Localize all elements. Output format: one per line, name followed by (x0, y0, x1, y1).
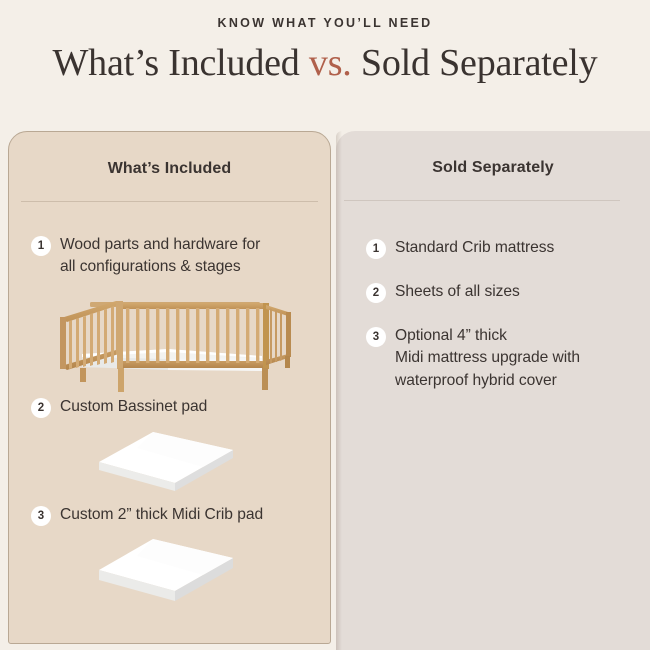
list-item: 2 Sheets of all sizes (366, 281, 628, 303)
item-label: Sheets of all sizes (395, 281, 520, 303)
item-number-badge: 2 (366, 283, 386, 303)
included-item-3: 3 Custom 2” thick Midi Crib pad (31, 504, 314, 612)
item-number-badge: 3 (31, 506, 51, 526)
page-header: KNOW WHAT YOU’LL NEED What’s Included vs… (0, 0, 650, 84)
item-label: Standard Crib mattress (395, 237, 554, 259)
item-number-badge: 3 (366, 327, 386, 347)
crib-illustration (48, 288, 298, 396)
bassinet-pad-illustration (83, 424, 263, 504)
page-title-part-1: What’s Included (53, 42, 309, 84)
page-title-part-2: Sold Separately (352, 42, 598, 84)
list-item: 2 Custom Bassinet pad (31, 396, 314, 418)
whats-included-list: 1 Wood parts and hardware for all config… (9, 202, 330, 613)
item-number-badge: 1 (31, 236, 51, 256)
page-title-accent: vs. (309, 42, 352, 84)
list-item: 3 Optional 4” thick Midi mattress upgrad… (366, 325, 628, 391)
item-label: Custom 2” thick Midi Crib pad (60, 504, 263, 526)
item-label: Custom Bassinet pad (60, 396, 207, 418)
sold-separately-list: 1 Standard Crib mattress 2 Sheets of all… (336, 201, 650, 392)
item-label: Optional 4” thick Midi mattress upgrade … (395, 325, 580, 391)
list-item: 3 Custom 2” thick Midi Crib pad (31, 504, 314, 526)
included-item-2: 2 Custom Bassinet pad (31, 396, 314, 504)
included-item-1: 1 Wood parts and hardware for all config… (31, 234, 314, 396)
eyebrow-label: KNOW WHAT YOU’LL NEED (0, 17, 650, 30)
comparison-panels: Sold Separately 1 Standard Crib mattress… (0, 131, 650, 650)
list-item: 1 Wood parts and hardware for all config… (31, 234, 314, 278)
list-item: 1 Standard Crib mattress (366, 237, 628, 259)
item-number-badge: 1 (366, 239, 386, 259)
panel-sold-separately: Sold Separately 1 Standard Crib mattress… (336, 131, 650, 650)
midi-crib-pad-illustration (83, 533, 263, 613)
item-label: Wood parts and hardware for all configur… (60, 234, 260, 278)
panel-sold-separately-title: Sold Separately (336, 131, 650, 177)
item-number-badge: 2 (31, 398, 51, 418)
panel-whats-included: What’s Included 1 Wood parts and hardwar… (8, 131, 331, 644)
panel-whats-included-title: What’s Included (9, 132, 330, 178)
page-title: What’s Included vs. Sold Separately (0, 43, 650, 84)
